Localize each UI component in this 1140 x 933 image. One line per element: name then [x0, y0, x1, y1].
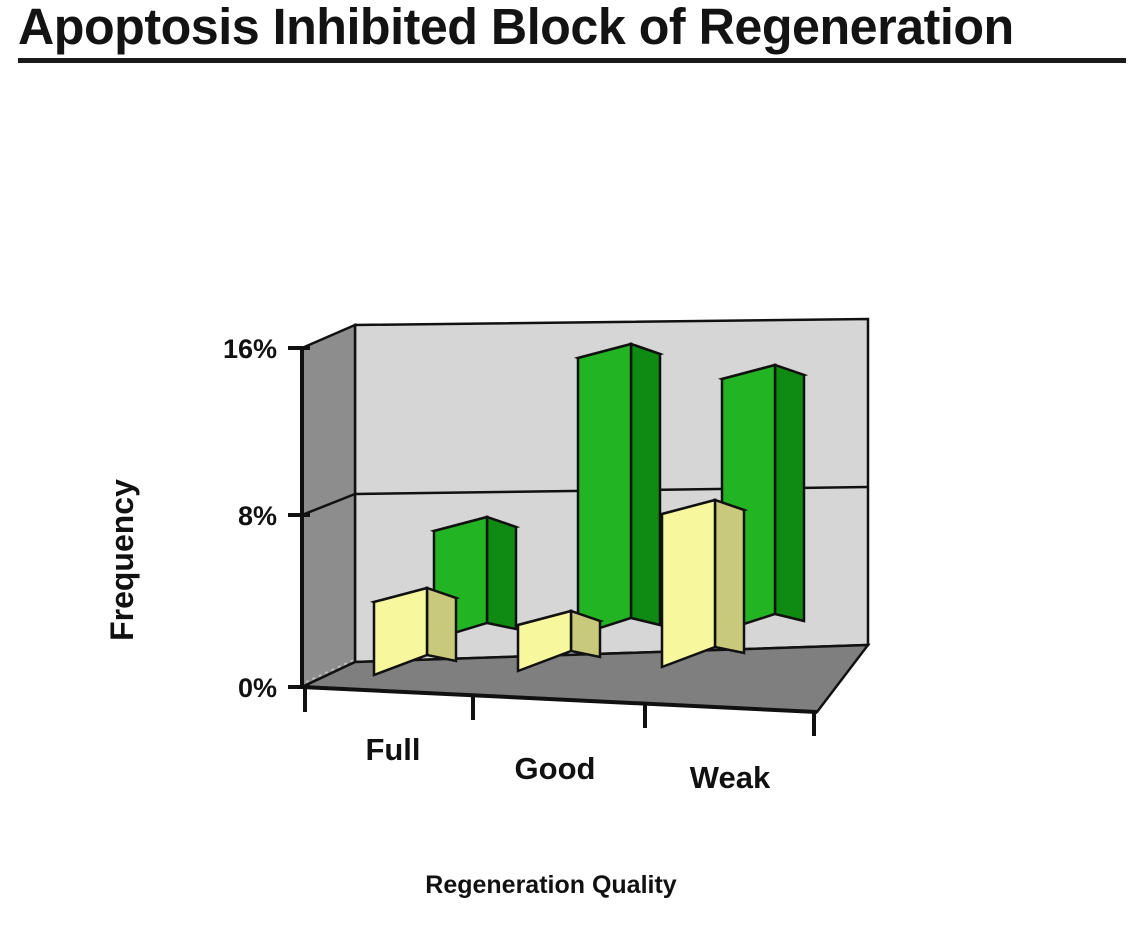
y-tick-label-8: 8%	[238, 501, 277, 531]
bar-front-face	[578, 344, 631, 635]
bar-green-good	[578, 344, 660, 635]
x-axis-title: Regeneration Quality	[425, 871, 677, 899]
bar-chart-3d: 16% 8% 0% Frequency	[0, 0, 1140, 933]
x-tick-label-full: Full	[365, 732, 420, 767]
x-tick-label-good: Good	[515, 751, 596, 786]
chart-figure: Apoptosis Inhibited Block of Regeneratio…	[0, 0, 1140, 933]
bar-yellow-weak	[662, 500, 744, 667]
bar-side-face	[427, 588, 456, 661]
y-tick-label-16: 16%	[223, 334, 277, 364]
left-wall	[302, 325, 355, 687]
bar-side-face	[487, 517, 516, 629]
x-tick-label-weak: Weak	[690, 760, 771, 795]
bar-front-face	[662, 500, 715, 667]
y-axis-title: Frequency	[104, 479, 140, 641]
bar-side-face	[715, 500, 744, 653]
y-axis: 16% 8% 0% Frequency	[104, 334, 310, 703]
x-axis: Full Good Weak Regeneration Quality	[302, 687, 817, 899]
bar-side-face	[631, 344, 660, 625]
y-tick-label-0: 0%	[238, 673, 277, 703]
bar-side-face	[775, 365, 804, 621]
